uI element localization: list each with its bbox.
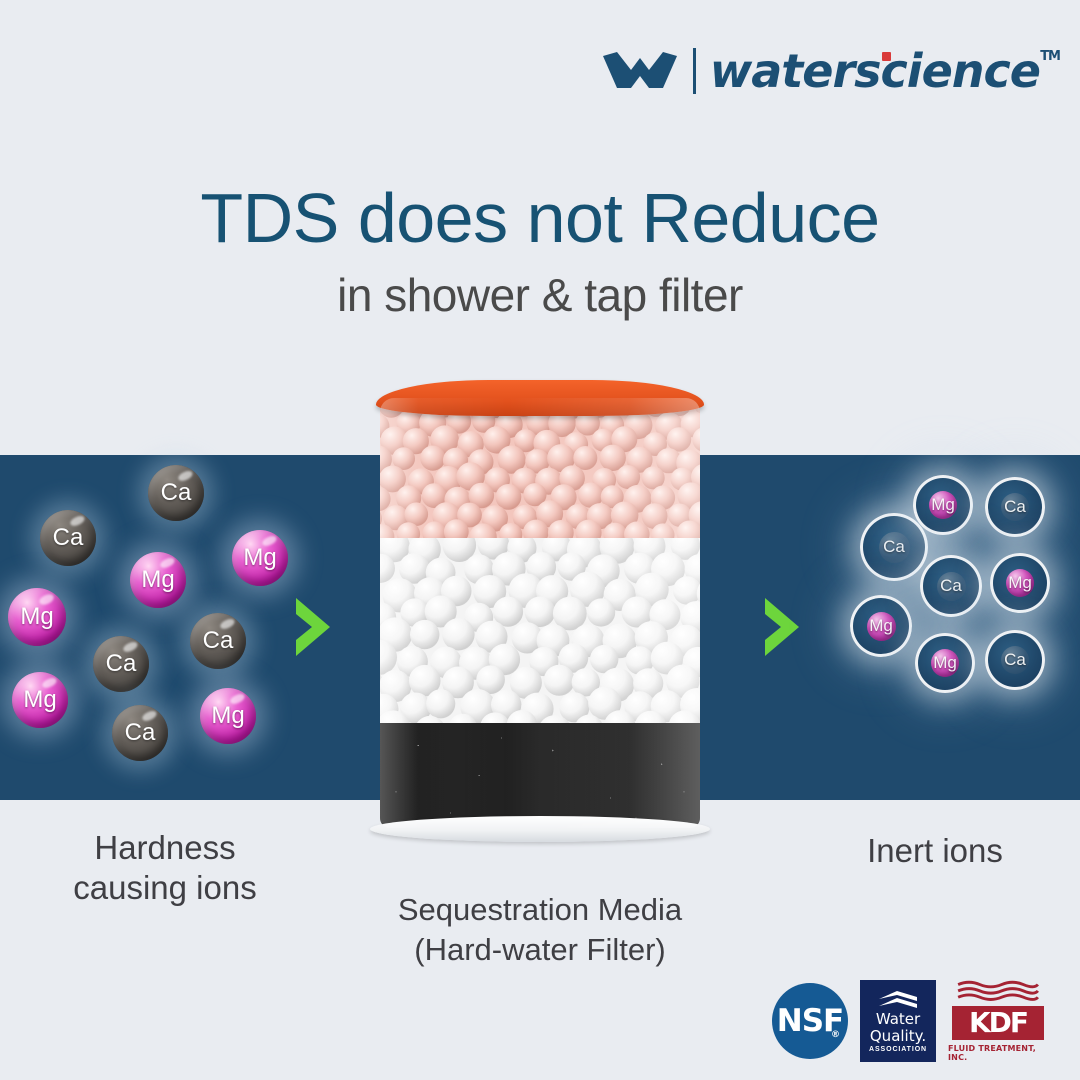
left-caption-line1: Hardness xyxy=(0,828,330,868)
page-subtitle: in shower & tap filter xyxy=(0,268,1080,322)
ion-label: Mg xyxy=(141,566,174,594)
encapsulated-ion-mg: Mg xyxy=(990,553,1050,613)
cartridge-body xyxy=(380,398,700,828)
wqa-line2: Quality. xyxy=(870,1029,926,1044)
ion-mg: Mg xyxy=(232,530,288,586)
brand-trademark: TM xyxy=(1040,50,1060,63)
media-layer-carbon xyxy=(380,723,700,828)
wqa-line3: ASSOCIATION xyxy=(869,1046,927,1053)
ion-mg: Mg xyxy=(200,688,256,744)
ion-label: Mg xyxy=(211,702,244,730)
ion-ca: Ca xyxy=(190,613,246,669)
right-caption: Inert ions xyxy=(790,832,1080,870)
encapsulated-ion-label: Mg xyxy=(929,491,957,519)
certification-badges: NSF ® Water Quality. ASSOCIATION KDF FLU… xyxy=(772,980,1048,1062)
ion-mg: Mg xyxy=(12,672,68,728)
ion-mg: Mg xyxy=(130,552,186,608)
ion-label: Ca xyxy=(203,627,234,655)
kdf-label: KDF xyxy=(969,1006,1027,1039)
ion-label: Mg xyxy=(243,544,276,572)
cartridge-base xyxy=(370,816,710,842)
ion-label: Mg xyxy=(20,603,53,631)
page-title: TDS does not Reduce xyxy=(0,178,1080,258)
kdf-wave-icon xyxy=(952,980,1044,1004)
inert-ions-group: CaMgCaMgCaMgMgCa xyxy=(800,455,1080,800)
center-caption: Sequestration Media (Hard-water Filter) xyxy=(280,890,800,971)
brand-name-wrap: waterscience TM xyxy=(710,48,1040,94)
brand-logo: waterscience TM xyxy=(601,48,1040,94)
encapsulated-ion-ca: Ca xyxy=(920,555,982,617)
ion-label: Ca xyxy=(53,524,84,552)
encapsulated-ion-mg: Mg xyxy=(913,475,973,535)
encapsulated-ion-label: Ca xyxy=(937,572,966,601)
waterscience-w-mark-icon xyxy=(601,48,679,94)
chevron-right-icon-right xyxy=(757,594,805,660)
media-layer-pink xyxy=(380,398,700,550)
filter-cartridge xyxy=(370,380,710,845)
kdf-sublabel: FLUID TREATMENT, INC. xyxy=(948,1044,1048,1062)
nsf-registered: ® xyxy=(831,1030,839,1040)
encapsulated-ion-ca: Ca xyxy=(860,513,928,581)
ion-ca: Ca xyxy=(148,465,204,521)
ion-label: Ca xyxy=(106,650,137,678)
ion-mg: Mg xyxy=(8,588,66,646)
encapsulated-ion-ca: Ca xyxy=(985,477,1045,537)
logo-divider xyxy=(693,48,696,94)
nsf-badge: NSF ® xyxy=(772,983,848,1059)
center-caption-line2: (Hard-water Filter) xyxy=(280,930,800,970)
center-caption-line1: Sequestration Media xyxy=(280,890,800,930)
encapsulated-ion-label: Mg xyxy=(931,649,959,677)
media-layer-white xyxy=(380,538,700,738)
kdf-badge: KDF FLUID TREATMENT, INC. xyxy=(948,980,1048,1062)
ion-ca: Ca xyxy=(112,705,168,761)
ion-label: Mg xyxy=(23,686,56,714)
kdf-label-box: KDF xyxy=(952,1006,1044,1040)
encapsulated-ion-mg: Mg xyxy=(915,633,975,693)
encapsulated-ion-label: Ca xyxy=(1001,646,1029,674)
ion-ca: Ca xyxy=(93,636,149,692)
brand-accent-dot xyxy=(882,52,891,61)
encapsulated-ion-mg: Mg xyxy=(850,595,912,657)
cartridge-orange-cap xyxy=(376,380,704,416)
ion-label: Ca xyxy=(125,719,156,747)
encapsulated-ion-label: Ca xyxy=(879,532,910,563)
ion-ca: Ca xyxy=(40,510,96,566)
encapsulated-ion-label: Ca xyxy=(1001,493,1029,521)
encapsulated-ion-ca: Ca xyxy=(985,630,1045,690)
encapsulated-ion-label: Mg xyxy=(867,612,896,641)
ion-label: Ca xyxy=(161,479,192,507)
chevron-right-icon-left xyxy=(288,594,336,660)
wqa-wave-icon xyxy=(877,990,919,1010)
wqa-badge: Water Quality. ASSOCIATION xyxy=(860,980,936,1062)
encapsulated-ion-label: Mg xyxy=(1006,569,1034,597)
wqa-line1: Water xyxy=(876,1012,920,1027)
hardness-ions-group: CaCaMgMgMgCaCaMgCaMg xyxy=(0,455,300,800)
brand-name: waterscience xyxy=(710,44,1040,98)
